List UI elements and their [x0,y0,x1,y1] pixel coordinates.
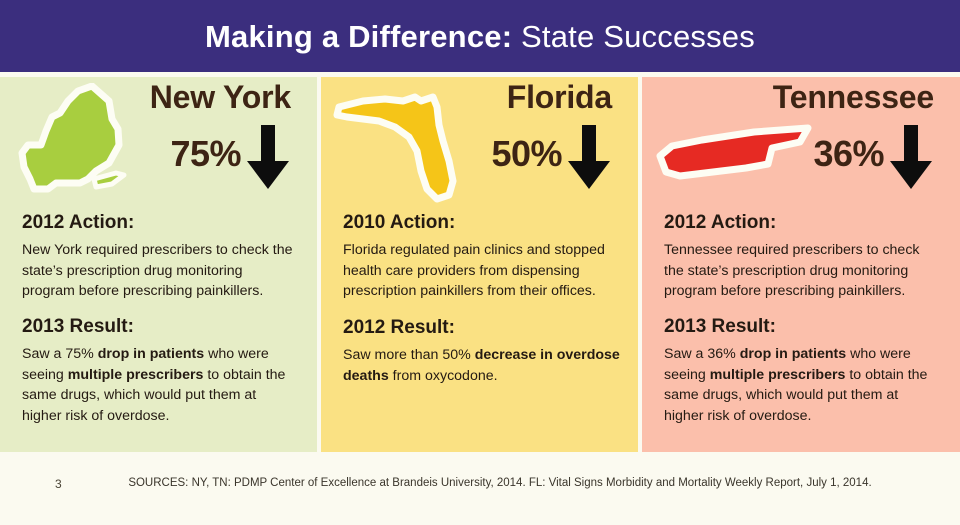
action-text-florida: Florida regulated pain clinics and stopp… [343,240,620,302]
tennessee-headline: Tennessee 36% [773,81,934,191]
new-york-headline: New York 75% [150,81,291,191]
action-text-new-york: New York required prescribers to check t… [22,240,299,302]
panel-new-york: New York 75% 2012 Action: New York requi… [0,77,317,452]
action-text-tennessee: Tennessee required prescribers to check … [664,240,938,302]
percent-tennessee: 36% [813,136,884,172]
result-heading-florida: 2012 Result: [343,318,620,339]
panel-header-tennessee: Tennessee 36% [642,77,960,207]
percent-new-york: 75% [170,136,241,172]
page-title-bold: Making a Difference: [205,19,512,54]
state-name-florida: Florida [491,81,612,113]
panel-header-florida: Florida 50% [321,77,638,207]
page-header: Making a Difference: State Successes [0,0,960,72]
action-heading-tennessee: 2012 Action: [664,213,938,234]
page-footer: 3 SOURCES: NY, TN: PDMP Center of Excell… [0,452,960,525]
panel-body-new-york: 2012 Action: New York required prescribe… [0,213,317,427]
state-name-tennessee: Tennessee [773,81,934,113]
panel-body-florida: 2010 Action: Florida regulated pain clin… [321,213,638,386]
result-block-florida: 2012 Result: Saw more than 50% decrease … [343,318,620,386]
state-panels: New York 75% 2012 Action: New York requi… [0,77,960,452]
action-block-tennessee: 2012 Action: Tennessee required prescrib… [664,213,938,302]
result-heading-tennessee: 2013 Result: [664,317,938,338]
down-arrow-icon [245,125,291,191]
panel-tennessee: Tennessee 36% 2012 Action: Tennessee req… [642,77,960,452]
tennessee-percent-row: 36% [773,117,934,191]
page-title-light: State Successes [512,19,755,54]
result-text-tennessee: Saw a 36% drop in patients who were seei… [664,344,938,427]
new-york-percent-row: 75% [150,117,291,191]
action-block-florida: 2010 Action: Florida regulated pain clin… [343,213,620,302]
down-arrow-icon [888,125,934,191]
result-block-tennessee: 2013 Result: Saw a 36% drop in patients … [664,317,938,427]
panel-body-tennessee: 2012 Action: Tennessee required prescrib… [642,213,960,427]
florida-headline: Florida 50% [491,81,612,191]
result-text-new-york: Saw a 75% drop in patients who were seei… [22,344,299,427]
state-name-new-york: New York [150,81,291,113]
sources-note: SOURCES: NY, TN: PDMP Center of Excellen… [0,477,960,489]
result-text-florida: Saw more than 50% decrease in overdose d… [343,345,620,386]
result-block-new-york: 2013 Result: Saw a 75% drop in patients … [22,317,299,427]
page-title: Making a Difference: State Successes [205,21,755,52]
new-york-map-icon [8,83,143,201]
florida-percent-row: 50% [491,117,612,191]
action-heading-new-york: 2012 Action: [22,213,299,234]
result-heading-new-york: 2013 Result: [22,317,299,338]
florida-map-icon [333,85,475,205]
down-arrow-icon [566,125,612,191]
percent-florida: 50% [491,136,562,172]
panel-florida: Florida 50% 2010 Action: Florida regulat… [321,77,638,452]
panel-header-new-york: New York 75% [0,77,317,207]
action-heading-florida: 2010 Action: [343,213,620,234]
action-block-new-york: 2012 Action: New York required prescribe… [22,213,299,302]
